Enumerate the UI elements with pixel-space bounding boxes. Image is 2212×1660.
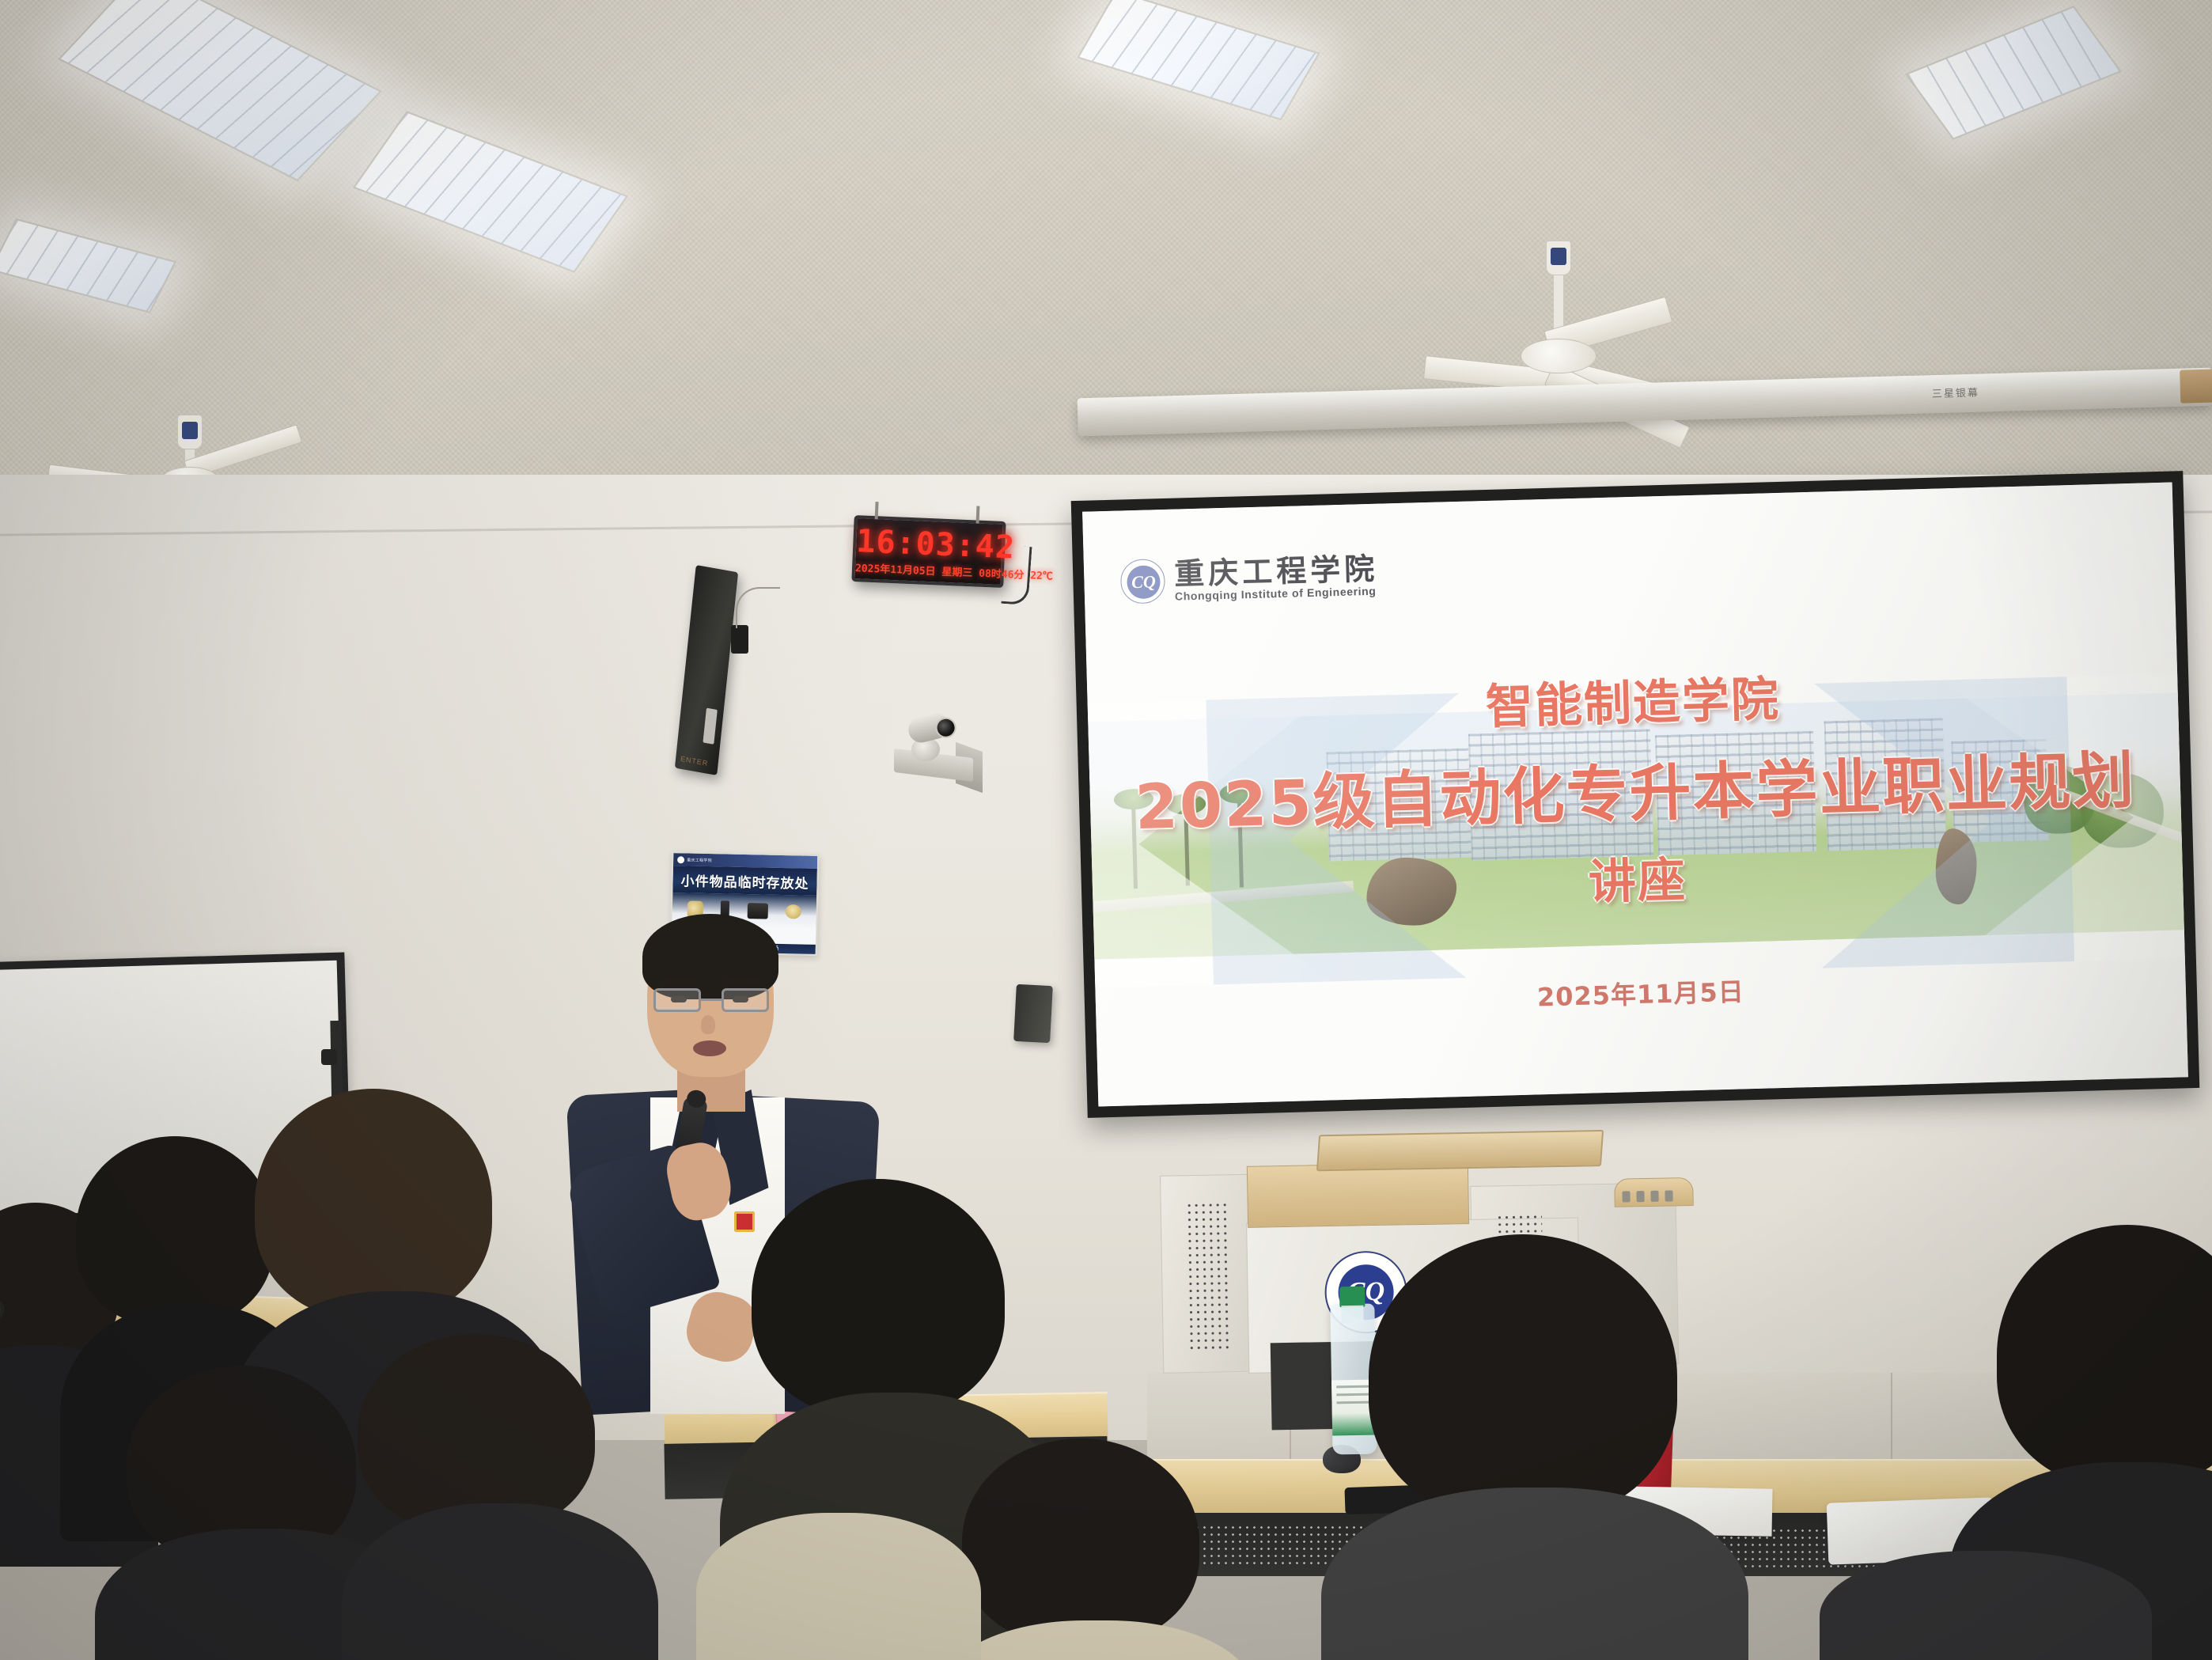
audience-member — [696, 1513, 934, 1660]
university-name-cn: 重庆工程学院 — [1174, 553, 1379, 589]
speaker-wall-mount — [731, 625, 748, 654]
presentation-slide: CQ 重庆工程学院 Chongqing Institute of Enginee… — [1082, 483, 2188, 1107]
slide-university-logo: CQ 重庆工程学院 Chongqing Institute of Enginee… — [1120, 553, 1379, 604]
screen-surface: CQ 重庆工程学院 Chongqing Institute of Enginee… — [1082, 483, 2188, 1107]
watch-icon — [785, 904, 801, 919]
bag-icon — [747, 903, 767, 919]
clock-time-display: 16:03:42 — [855, 523, 1002, 566]
presenter-mouth — [693, 1040, 726, 1056]
audience-member — [1369, 1234, 1701, 1660]
screen-brand-label: 三星银幕 — [1932, 385, 1980, 401]
ptz-camera — [880, 711, 983, 786]
campus-photo — [1088, 692, 2184, 959]
led-wall-clock: 16:03:42 2025年11月05日 星期三 08时46分 22℃ — [851, 515, 1006, 588]
camera-body — [906, 711, 952, 745]
projection-screen: CQ 重庆工程学院 Chongqing Institute of Enginee… — [1071, 471, 2200, 1118]
eyeglasses-icon — [653, 988, 769, 1012]
bottle-cap — [1339, 1287, 1365, 1308]
podium-top-surface — [1316, 1130, 1604, 1171]
presenter-eyebrow — [723, 979, 759, 984]
poster-logo-icon — [677, 856, 684, 863]
camera-lens-icon — [934, 715, 959, 741]
presenter-nose — [701, 1015, 715, 1034]
poster-title-band: 小件物品临时存放处 — [672, 866, 817, 896]
audience-member — [962, 1438, 1207, 1660]
podium-wood-trim — [1247, 1162, 1469, 1228]
audience-member — [127, 1366, 372, 1660]
podium-control-buttons[interactable] — [1622, 1190, 1672, 1202]
poster-title: 小件物品临时存放处 — [680, 870, 809, 892]
whiteboard-adjust-knob[interactable] — [321, 1049, 337, 1065]
presenter-eyebrow — [661, 979, 698, 984]
slide-campus-photo-band — [1088, 692, 2184, 959]
audience-member — [358, 1334, 619, 1660]
screen-housing-end-cap — [2180, 369, 2212, 403]
university-seal-icon: CQ — [1120, 559, 1165, 604]
audience-member — [1820, 1551, 2104, 1660]
seal-monogram: CQ — [1127, 565, 1161, 599]
wall-speaker — [1013, 984, 1053, 1043]
speaker-cable — [736, 587, 780, 628]
podium-speaker-grille — [1186, 1201, 1233, 1352]
slide-date: 2025年11月5日 — [1095, 960, 2186, 1025]
lecture-hall-photo: 16:03:42 2025年11月05日 星期三 08时46分 22℃ ENTE… — [0, 0, 2212, 1660]
presenter-hair — [642, 914, 778, 999]
poster-header-text: 重庆工程学院 — [687, 857, 712, 863]
